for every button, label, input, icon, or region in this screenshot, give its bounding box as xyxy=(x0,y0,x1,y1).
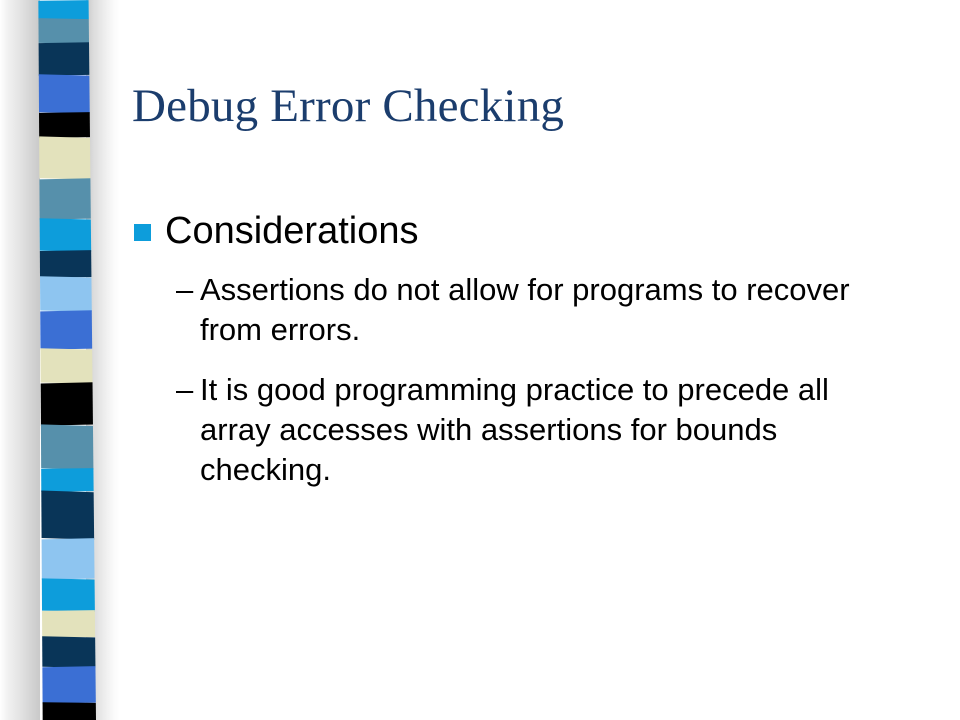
stripe-band xyxy=(34,610,96,638)
stripe-band xyxy=(34,0,96,20)
stripe-band xyxy=(34,424,96,470)
stripe-band xyxy=(34,468,96,492)
dash-bullet-icon: – xyxy=(176,270,200,310)
dash-bullet-icon: – xyxy=(176,370,200,410)
stripe-band xyxy=(34,74,96,114)
stripe-band xyxy=(34,702,96,720)
bullet-level2: – Assertions do not allow for programs t… xyxy=(134,270,934,350)
stripe-band xyxy=(34,218,96,252)
stripe-band xyxy=(34,348,96,384)
bullet-level2-label: It is good programming practice to prece… xyxy=(200,370,900,490)
stripe-band xyxy=(34,276,96,312)
bullet-level2: – It is good programming practice to pre… xyxy=(134,370,934,490)
slide-body: Considerations – Assertions do not allow… xyxy=(134,208,934,510)
stripe-band xyxy=(34,136,96,180)
bullet-level1: Considerations xyxy=(134,208,934,254)
stripe-band xyxy=(34,18,96,44)
stripe-band xyxy=(34,42,96,76)
stripe-band xyxy=(34,178,96,220)
stripe-band xyxy=(34,490,96,540)
square-bullet-icon xyxy=(134,224,151,241)
stripe-shadow-left xyxy=(0,0,40,720)
slide-title: Debug Error Checking xyxy=(132,78,922,134)
bullet-level2-label: Assertions do not allow for programs to … xyxy=(200,270,900,350)
stripe-band xyxy=(34,112,96,138)
stripe-band xyxy=(34,250,96,278)
slide-canvas: Debug Error Checking Considerations – As… xyxy=(0,0,960,720)
bullet-level1-label: Considerations xyxy=(165,208,418,254)
stripe-ribbon xyxy=(34,0,96,720)
stripe-band xyxy=(34,666,96,704)
stripe-band xyxy=(34,636,96,668)
stripe-band xyxy=(34,578,96,612)
stripe-band xyxy=(34,538,96,580)
stripe-band xyxy=(34,382,96,426)
stripe-band xyxy=(34,310,96,350)
left-color-stripe xyxy=(0,0,130,720)
